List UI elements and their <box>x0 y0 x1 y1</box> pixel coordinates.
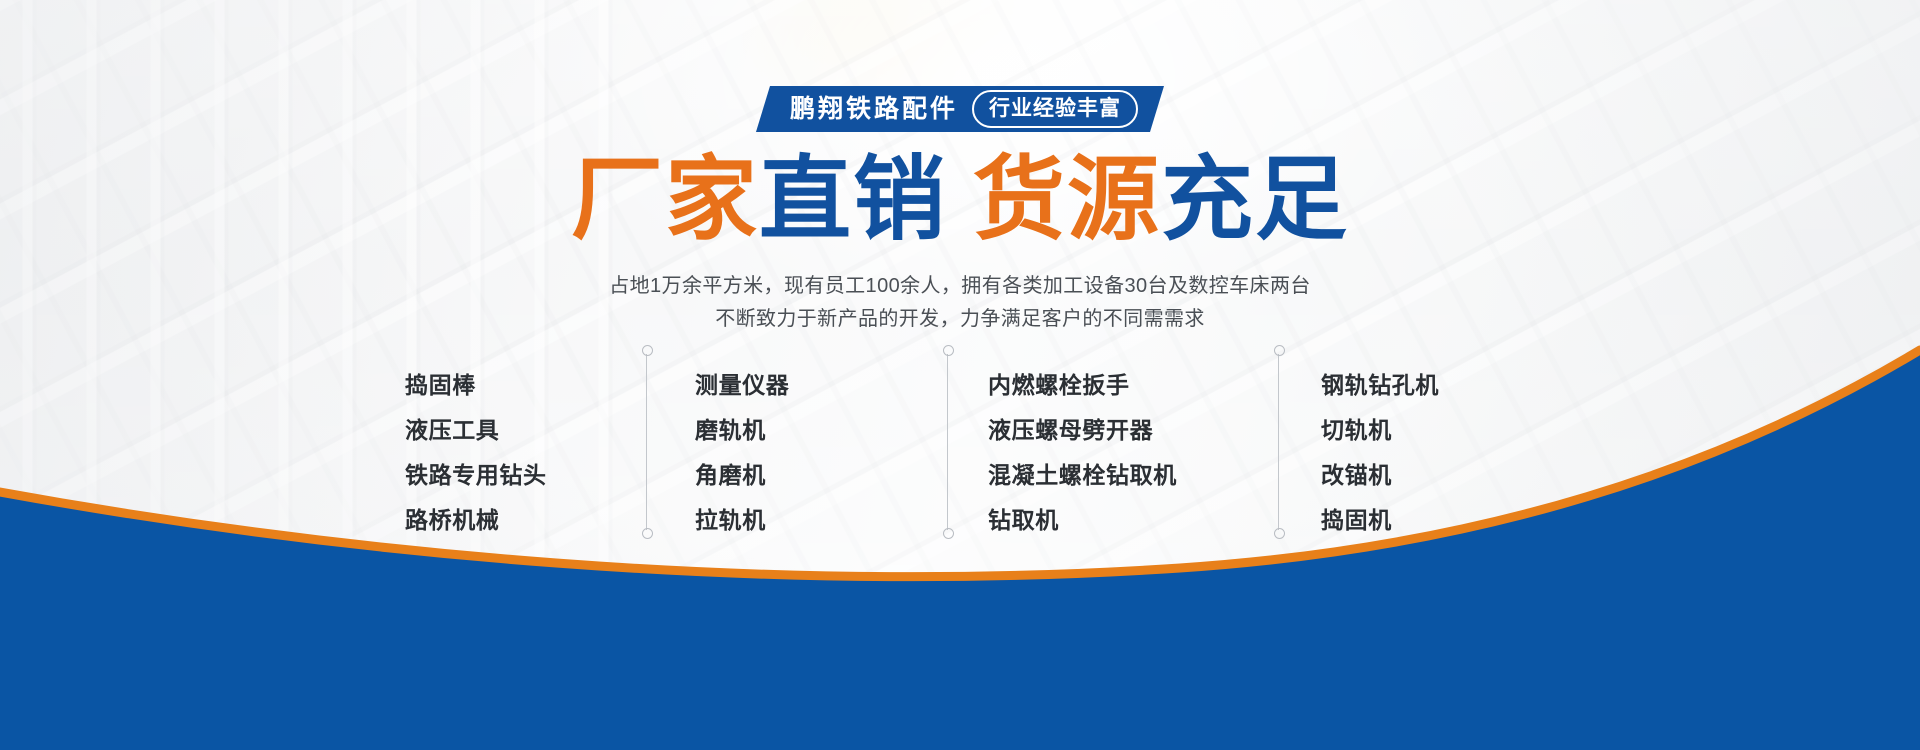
brand-ribbon-body: 鹏翔铁路配件 行业经验丰富 <box>756 86 1164 132</box>
experience-badge: 行业经验丰富 <box>972 90 1138 128</box>
headline-part-1: 厂家 <box>571 154 759 246</box>
right-accent-shape <box>1300 300 1920 750</box>
brand-ribbon-title: 鹏翔铁路配件 <box>790 97 958 122</box>
promo-banner: 鹏翔铁路配件 行业经验丰富 厂家直销货源充足 占地1万余平方米，现有员工100余… <box>0 0 1920 750</box>
headline-part-3: 货源 <box>973 154 1161 246</box>
brand-ribbon: 鹏翔铁路配件 行业经验丰富 <box>756 86 1164 132</box>
right-edge-accent <box>1300 0 1920 750</box>
subtitle-line-1: 占地1万余平方米，现有员工100余人，拥有各类加工设备30台及数控车床两台 <box>609 270 1311 303</box>
headline: 厂家直销货源充足 <box>571 154 1349 246</box>
headline-part-2: 直销 <box>759 154 947 246</box>
